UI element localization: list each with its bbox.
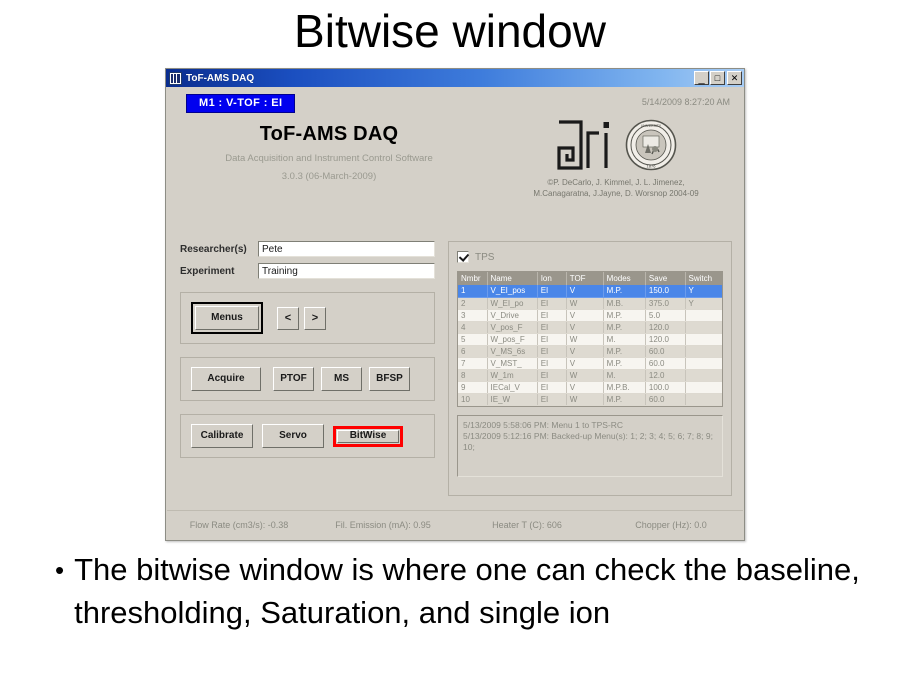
column-header-name[interactable]: Name bbox=[487, 272, 537, 285]
table-cell-switch bbox=[685, 357, 722, 369]
mode-badge[interactable]: M1 : V-TOF : EI bbox=[186, 94, 295, 113]
table-row[interactable]: 7V_MST_EIVM.P.60.0 bbox=[458, 357, 722, 369]
prev-menu-button[interactable]: < bbox=[277, 307, 299, 330]
table-cell-tof: V bbox=[566, 357, 603, 369]
table-cell-nmbr: 9 bbox=[458, 381, 487, 393]
column-header-modes[interactable]: Modes bbox=[603, 272, 645, 285]
svg-text:1876: 1876 bbox=[647, 163, 657, 168]
experiment-input[interactable]: Training bbox=[258, 263, 435, 279]
researcher-input[interactable]: Pete bbox=[258, 241, 435, 257]
table-cell-nmbr: 7 bbox=[458, 357, 487, 369]
menus-button-group: Menus < > bbox=[180, 292, 435, 344]
table-cell-ion: EI bbox=[537, 381, 566, 393]
status-bar: Flow Rate (cm3/s): -0.38 Fil. Emission (… bbox=[167, 510, 743, 538]
status-chopper: Chopper (Hz): 0.0 bbox=[599, 520, 743, 530]
calibrate-button-group: Calibrate Servo BitWise bbox=[180, 414, 435, 458]
table-cell-tof: W bbox=[566, 369, 603, 381]
table-row[interactable]: 8W_1mEIWM.12.0 bbox=[458, 369, 722, 381]
logos: UNIVERSITY 1876 bbox=[496, 119, 736, 175]
app-subtitle: Data Acquisition and Instrument Control … bbox=[184, 153, 474, 164]
close-glyph: ✕ bbox=[728, 72, 741, 84]
table-cell-tof: W bbox=[566, 333, 603, 345]
table-cell-save: 60.0 bbox=[645, 345, 685, 357]
table-cell-modes: M.P.B. bbox=[603, 381, 645, 393]
table-cell-modes: M.P. bbox=[603, 309, 645, 321]
table-cell-nmbr: 2 bbox=[458, 297, 487, 309]
bitwise-highlight-annotation: BitWise bbox=[333, 426, 403, 447]
table-cell-modes: M. bbox=[603, 333, 645, 345]
table-cell-switch bbox=[685, 321, 722, 333]
table-cell-name: W_1m bbox=[487, 369, 537, 381]
menu-nav-group: < > bbox=[277, 307, 326, 330]
table-cell-nmbr: 3 bbox=[458, 309, 487, 321]
table-cell-name: IECal_V bbox=[487, 381, 537, 393]
table-cell-modes: M.B. bbox=[603, 297, 645, 309]
table-cell-save: 60.0 bbox=[645, 393, 685, 405]
table-cell-save: 5.0 bbox=[645, 309, 685, 321]
table-cell-name: W_EI_po bbox=[487, 297, 537, 309]
maximize-icon[interactable]: □ bbox=[710, 71, 725, 85]
banner-text-block: ToF-AMS DAQ Data Acquisition and Instrum… bbox=[184, 123, 474, 182]
table-cell-save: 120.0 bbox=[645, 333, 685, 345]
experiment-label: Experiment bbox=[180, 266, 258, 277]
ptof-button[interactable]: PTOF bbox=[273, 367, 314, 391]
menus-default-frame: Menus bbox=[191, 302, 263, 334]
tps-checkbox[interactable] bbox=[457, 251, 469, 263]
table-cell-ion: EI bbox=[537, 357, 566, 369]
table-cell-tof: V bbox=[566, 309, 603, 321]
column-header-nmbr[interactable]: Nmbr bbox=[458, 272, 487, 285]
column-header-save[interactable]: Save bbox=[645, 272, 685, 285]
table-cell-nmbr: 6 bbox=[458, 345, 487, 357]
researcher-row: Researcher(s) Pete bbox=[180, 241, 435, 257]
table-cell-nmbr: 4 bbox=[458, 321, 487, 333]
banner-logo-block: UNIVERSITY 1876 ©P. DeCarlo, J. Kimmel, … bbox=[496, 119, 736, 199]
tps-table[interactable]: Nmbr Name Ion TOF Modes Save Switch 1V_E… bbox=[457, 271, 723, 407]
status-heater: Heater T (C): 606 bbox=[455, 520, 599, 530]
left-panel: Researcher(s) Pete Experiment Training M… bbox=[180, 241, 435, 458]
column-header-tof[interactable]: TOF bbox=[566, 272, 603, 285]
table-cell-save: 60.0 bbox=[645, 357, 685, 369]
table-cell-switch bbox=[685, 309, 722, 321]
column-header-switch[interactable]: Switch bbox=[685, 272, 722, 285]
table-cell-tof: V bbox=[566, 321, 603, 333]
menus-button[interactable]: Menus bbox=[195, 306, 259, 330]
table-cell-ion: EI bbox=[537, 297, 566, 309]
table-cell-switch bbox=[685, 381, 722, 393]
bfsp-button[interactable]: BFSP bbox=[369, 367, 410, 391]
app-version: 3.0.3 (06-March-2009) bbox=[184, 171, 474, 182]
table-cell-switch bbox=[685, 345, 722, 357]
table-cell-nmbr: 8 bbox=[458, 369, 487, 381]
table-row[interactable]: 3V_DriveEIVM.P.5.0 bbox=[458, 309, 722, 321]
table-row[interactable]: 10IE_WEIWM.P.60.0 bbox=[458, 393, 722, 405]
table-row[interactable]: 5W_pos_FEIWM.120.0 bbox=[458, 333, 722, 345]
table-cell-name: V_MST_ bbox=[487, 357, 537, 369]
log-line-2: 5/13/2009 5:12:16 PM: Backed-up Menu(s):… bbox=[463, 431, 717, 453]
tps-panel: TPS Nmbr Name Ion TOF Modes Save Switch … bbox=[448, 241, 732, 496]
table-cell-name: V_EI_pos bbox=[487, 285, 537, 297]
table-cell-save: 120.0 bbox=[645, 321, 685, 333]
table-cell-switch: Y bbox=[685, 285, 722, 297]
calibrate-button[interactable]: Calibrate bbox=[191, 424, 253, 448]
table-cell-tof: V bbox=[566, 345, 603, 357]
table-cell-switch bbox=[685, 333, 722, 345]
table-cell-ion: EI bbox=[537, 309, 566, 321]
table-cell-ion: EI bbox=[537, 321, 566, 333]
table-cell-modes: M.P. bbox=[603, 393, 645, 405]
window-title: ToF-AMS DAQ bbox=[186, 73, 693, 84]
table-header-row: Nmbr Name Ion TOF Modes Save Switch bbox=[458, 272, 722, 285]
table-cell-modes: M.P. bbox=[603, 285, 645, 297]
table-cell-modes: M. bbox=[603, 369, 645, 381]
credits-line-2: M.Canagaratna, J.Jayne, D. Worsnop 2004-… bbox=[496, 188, 736, 199]
table-cell-switch bbox=[685, 369, 722, 381]
table-row[interactable]: 6V_MS_6sEIVM.P.60.0 bbox=[458, 345, 722, 357]
table-cell-save: 100.0 bbox=[645, 381, 685, 393]
table-cell-ion: EI bbox=[537, 333, 566, 345]
log-line-1: 5/13/2009 5:58:06 PM: Menu 1 to TPS-RC bbox=[463, 420, 717, 431]
table-cell-modes: M.P. bbox=[603, 321, 645, 333]
ari-logo-icon bbox=[555, 119, 611, 176]
minimize-glyph: _ bbox=[695, 72, 708, 84]
table-cell-name: V_MS_6s bbox=[487, 345, 537, 357]
table-row[interactable]: 4V_pos_FEIVM.P.120.0 bbox=[458, 321, 722, 333]
bullet-marker: • bbox=[55, 548, 64, 634]
minimize-icon[interactable]: _ bbox=[694, 71, 709, 85]
acquire-button-group: Acquire PTOF MS BFSP bbox=[180, 357, 435, 401]
university-seal-icon: UNIVERSITY 1876 bbox=[625, 119, 677, 176]
close-icon[interactable]: ✕ bbox=[727, 71, 742, 85]
table-cell-ion: EI bbox=[537, 285, 566, 297]
table-cell-nmbr: 5 bbox=[458, 333, 487, 345]
table-cell-save: 150.0 bbox=[645, 285, 685, 297]
table-cell-switch bbox=[685, 393, 722, 405]
table-cell-name: V_pos_F bbox=[487, 321, 537, 333]
table-row[interactable]: 9IECal_VEIVM.P.B.100.0 bbox=[458, 381, 722, 393]
table-cell-ion: EI bbox=[537, 345, 566, 357]
table-cell-save: 12.0 bbox=[645, 369, 685, 381]
credits-line-1: ©P. DeCarlo, J. Kimmel, J. L. Jimenez, bbox=[496, 177, 736, 188]
table-cell-modes: M.P. bbox=[603, 357, 645, 369]
mode-row: M1 : V-TOF : EI 5/14/2009 8:27:20 AM bbox=[166, 93, 744, 117]
table-row[interactable]: 2W_EI_poEIWM.B.375.0Y bbox=[458, 297, 722, 309]
table-cell-tof: W bbox=[566, 393, 603, 405]
table-cell-ion: EI bbox=[537, 393, 566, 405]
acquire-button[interactable]: Acquire bbox=[191, 367, 261, 391]
tps-label: TPS bbox=[475, 252, 494, 263]
table-cell-tof: V bbox=[566, 285, 603, 297]
next-menu-button[interactable]: > bbox=[304, 307, 326, 330]
app-name: ToF-AMS DAQ bbox=[184, 123, 474, 146]
credits: ©P. DeCarlo, J. Kimmel, J. L. Jimenez, M… bbox=[496, 177, 736, 199]
researcher-label: Researcher(s) bbox=[180, 244, 258, 255]
table-cell-tof: W bbox=[566, 297, 603, 309]
table-cell-tof: V bbox=[566, 381, 603, 393]
experiment-row: Experiment Training bbox=[180, 263, 435, 279]
clock-timestamp: 5/14/2009 8:27:20 AM bbox=[642, 97, 730, 107]
app-icon bbox=[169, 72, 182, 85]
status-fil-emission: Fil. Emission (mA): 0.95 bbox=[311, 520, 455, 530]
table-cell-name: W_pos_F bbox=[487, 333, 537, 345]
ms-button[interactable]: MS bbox=[321, 367, 362, 391]
table-cell-ion: EI bbox=[537, 369, 566, 381]
banner: ToF-AMS DAQ Data Acquisition and Instrum… bbox=[166, 117, 744, 215]
bullet-text: The bitwise window is where one can chec… bbox=[74, 548, 885, 634]
tof-ams-daq-window: ToF-AMS DAQ _ □ ✕ M1 : V-TOF : EI 5/14/2… bbox=[165, 68, 745, 541]
table-cell-save: 375.0 bbox=[645, 297, 685, 309]
page-title: Bitwise window bbox=[0, 2, 900, 60]
table-cell-switch: Y bbox=[685, 297, 722, 309]
bitwise-button[interactable]: BitWise bbox=[337, 430, 399, 443]
table-row[interactable]: 1V_EI_posEIVM.P.150.0Y bbox=[458, 285, 722, 297]
bullet-block: • The bitwise window is where one can ch… bbox=[55, 548, 885, 634]
status-flow-rate: Flow Rate (cm3/s): -0.38 bbox=[167, 520, 311, 530]
table-cell-name: IE_W bbox=[487, 393, 537, 405]
svg-text:UNIVERSITY: UNIVERSITY bbox=[641, 124, 662, 128]
table-cell-nmbr: 1 bbox=[458, 285, 487, 297]
servo-button[interactable]: Servo bbox=[262, 424, 324, 448]
maximize-glyph: □ bbox=[711, 72, 724, 84]
log-box[interactable]: 5/13/2009 5:58:06 PM: Menu 1 to TPS-RC 5… bbox=[457, 415, 723, 477]
window-titlebar: ToF-AMS DAQ _ □ ✕ bbox=[166, 69, 744, 87]
table-cell-modes: M.P. bbox=[603, 345, 645, 357]
tps-checkbox-row[interactable]: TPS bbox=[457, 249, 723, 265]
tps-table-body: 1V_EI_posEIVM.P.150.0Y2W_EI_poEIWM.B.375… bbox=[458, 285, 722, 405]
table-cell-nmbr: 10 bbox=[458, 393, 487, 405]
table-cell-name: V_Drive bbox=[487, 309, 537, 321]
column-header-ion[interactable]: Ion bbox=[537, 272, 566, 285]
bullet-item: • The bitwise window is where one can ch… bbox=[55, 548, 885, 634]
